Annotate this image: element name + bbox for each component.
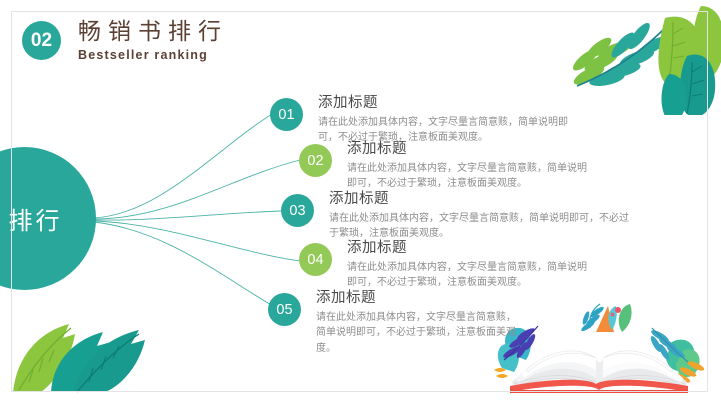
item-text-group: 添加标题 请在此处添加具体内容，文字尽量言简意赅，简单说明即可，不必过于繁琐，注…	[347, 141, 592, 192]
list-item[interactable]: 03 添加标题 请在此处添加具体内容，文字尽量言简意赅，简单说明即可，不必过于繁…	[281, 191, 611, 242]
list-item[interactable]: 05 添加标题 请在此处添加具体内容，文字尽量言简意赅，简单说明即可，不必过于繁…	[268, 290, 558, 356]
section-number-badge: 02	[22, 21, 61, 60]
item-title: 添加标题	[316, 290, 521, 307]
page-subtitle: Bestseller ranking	[78, 49, 228, 62]
item-body: 请在此处添加具体内容，文字尽量言简意赅，简单说明即可，不必过于繁琐，注意板面美观…	[347, 260, 587, 291]
item-text-group: 添加标题 请在此处添加具体内容，文字尽量言简意赅，简单说明即可，不必过于繁琐，注…	[329, 191, 629, 242]
item-number-circle: 03	[281, 194, 314, 227]
item-title: 添加标题	[329, 191, 629, 208]
item-body: 请在此处添加具体内容，文字尽量言简意赅，简单说明即可，不必过于繁琐，注意板面美观…	[316, 310, 521, 357]
hub-label: 排行	[0, 201, 63, 236]
item-title: 添加标题	[318, 95, 573, 112]
item-number-circle: 02	[299, 144, 332, 177]
header-text-group: 畅销书排行 Bestseller ranking	[78, 20, 228, 62]
slide-canvas: 02 畅销书排行 Bestseller ranking 排行 01 添加标题 请…	[0, 0, 721, 405]
slide-header: 02 畅销书排行 Bestseller ranking	[22, 20, 228, 62]
item-text-group: 添加标题 请在此处添加具体内容，文字尽量言简意赅，简单说明即可，不必过于繁琐，注…	[347, 240, 587, 291]
item-title: 添加标题	[347, 141, 592, 158]
item-text-group: 添加标题 请在此处添加具体内容，文字尽量言简意赅，简单说明即可，不必过于繁琐，注…	[316, 290, 521, 356]
item-title: 添加标题	[347, 240, 587, 257]
item-number-circle: 01	[270, 98, 303, 131]
item-number-circle: 04	[299, 243, 332, 276]
connector-line-02	[94, 160, 300, 219]
item-number-circle: 05	[268, 293, 301, 326]
item-text-group: 添加标题 请在此处添加具体内容，文字尽量言简意赅，简单说明即可，不必过于繁琐，注…	[318, 95, 573, 146]
page-title: 畅销书排行	[78, 20, 228, 43]
list-item[interactable]: 02 添加标题 请在此处添加具体内容，文字尽量言简意赅，简单说明即可，不必过于繁…	[299, 141, 599, 192]
list-item[interactable]: 04 添加标题 请在此处添加具体内容，文字尽量言简意赅，简单说明即可，不必过于繁…	[299, 240, 599, 291]
item-body: 请在此处添加具体内容，文字尽量言简意赅，简单说明即可，不必过于繁琐，注意板面美观…	[347, 161, 592, 192]
list-item[interactable]: 01 添加标题 请在此处添加具体内容，文字尽量言简意赅，简单说明即可，不必过于繁…	[270, 95, 570, 146]
item-body: 请在此处添加具体内容，文字尽量言简意赅，简单说明即可，不必过于繁琐，注意板面美观…	[329, 211, 629, 242]
connector-line-04	[94, 221, 300, 261]
